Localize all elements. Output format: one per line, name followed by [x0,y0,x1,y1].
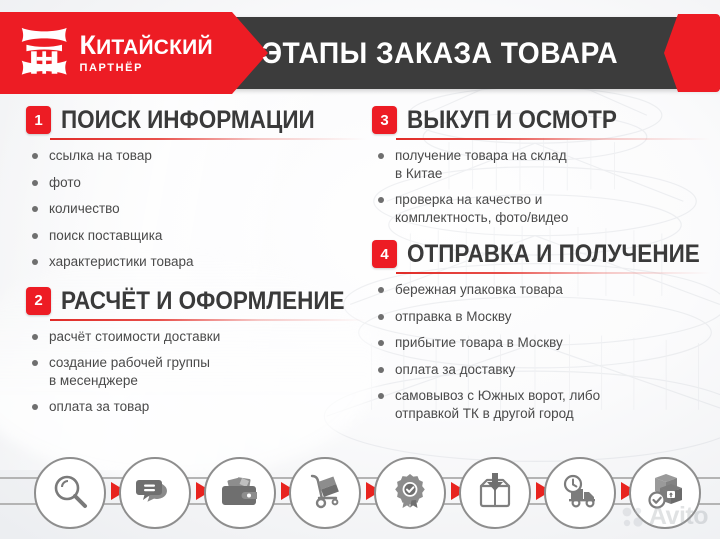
list-item-text: ссылка на товар [49,147,366,165]
section-1-header: 1 ПОИСК ИНФОРМАЦИИ [26,104,366,136]
process-step-5[interactable] [374,457,446,529]
chat-bubbles-icon [136,472,174,515]
right-column: 3 ВЫКУП И ОСМОТР получение товара на скл… [372,104,710,431]
list-item-text: получение товара на складв Китае [395,147,710,182]
process-nodes [0,435,720,539]
section-3-underline [396,138,710,140]
section-2-header: 2 РАСЧЁТ И ОФОРМЛЕНИЕ [26,285,366,317]
brand-subtitle: ПАРТНЁР [79,62,143,74]
list-item: отправка в Москву [372,308,710,326]
hand-truck-icon [306,472,344,515]
poster-infographic: КИТАЙСКИЙ ПАРТНЁР ЭТАПЫ ЗАКАЗА ТОВАРА 1 … [0,0,720,539]
section-4-underline [396,272,710,274]
wallet-icon [221,472,259,515]
brand-logo-text: КИТАЙСКИЙ ПАРТНЁР [79,32,268,75]
list-item: расчёт стоимости доставки [26,328,366,346]
brand-name-rest: ИТАЙСКИЙ [96,36,213,59]
section-4-title: ОТПРАВКА И ПОЛУЧЕНИЕ [407,240,700,268]
section-4-header: 4 ОТПРАВКА И ПОЛУЧЕНИЕ [372,238,710,270]
list-item-text: оплата за товар [49,398,366,416]
section-4-list: бережная упаковка товара отправка в Моск… [372,281,710,422]
header-banner: КИТАЙСКИЙ ПАРТНЁР ЭТАПЫ ЗАКАЗА ТОВАРА [0,12,720,94]
section-3-title: ВЫКУП И ОСМОТР [407,106,617,134]
list-item: ссылка на товар [26,147,366,165]
list-item: прибытие товара в Москву [372,334,710,352]
list-item: оплата за товар [26,398,366,416]
section-4: 4 ОТПРАВКА И ПОЛУЧЕНИЕ бережная упаковка… [372,238,710,422]
list-item: проверка на качество икомплектность, фот… [372,191,710,226]
process-step-7[interactable] [544,457,616,529]
list-item-text: создание рабочей группыв месенджере [49,354,366,389]
section-1-underline [50,138,366,140]
list-item-text: бережная упаковка товара [395,281,710,299]
section-2-number-badge: 2 [26,287,51,315]
list-item-text: отправка в Москву [395,308,710,326]
brand-name-initial: К [79,30,96,60]
section-3-list: получение товара на складв Китае проверк… [372,147,710,226]
list-item-text: характеристики товара [49,253,366,271]
page-title: ЭТАПЫ ЗАКАЗА ТОВАРА [262,32,657,76]
section-1-list: ссылка на товар фото количество поиск по… [26,147,366,271]
list-item: количество [26,200,366,218]
process-strip: Avito [0,435,720,539]
brand-logo[interactable]: КИТАЙСКИЙ ПАРТНЁР [18,26,268,80]
truck-clock-icon [561,472,599,515]
list-item: создание рабочей группыв месенджере [26,354,366,389]
brand-name: КИТАЙСКИЙ [79,36,212,59]
section-2-underline [50,319,366,321]
list-item-text: фото [49,174,366,192]
list-item: характеристики товара [26,253,366,271]
list-item-text: количество [49,200,366,218]
section-2-list: расчёт стоимости доставки создание рабоч… [26,328,366,416]
process-step-2[interactable] [119,457,191,529]
process-step-3[interactable] [204,457,276,529]
list-item: получение товара на складв Китае [372,147,710,182]
sections-container: 1 ПОИСК ИНФОРМАЦИИ ссылка на товар фото … [0,104,720,434]
list-item: поиск поставщика [26,227,366,245]
section-1-title: ПОИСК ИНФОРМАЦИИ [61,106,315,134]
list-item-text: поиск поставщика [49,227,366,245]
process-step-1[interactable] [34,457,106,529]
section-3-header: 3 ВЫКУП И ОСМОТР [372,104,710,136]
header-red-block: КИТАЙСКИЙ ПАРТНЁР [0,12,268,94]
list-item: бережная упаковка товара [372,281,710,299]
section-1-number-badge: 1 [26,106,51,134]
list-item-text: оплата за доставку [395,361,710,379]
process-step-8[interactable] [629,457,701,529]
section-3-number-badge: 3 [372,106,397,134]
list-item-text: проверка на качество икомплектность, фот… [395,191,710,226]
package-check-icon [646,472,684,515]
section-2: 2 РАСЧЁТ И ОФОРМЛЕНИЕ расчёт стоимости д… [26,285,366,416]
torii-gate-icon [18,26,70,80]
list-item: самовывоз с Южных ворот, либоотправкой Т… [372,387,710,422]
box-delivery-icon [476,472,514,515]
process-step-6[interactable] [459,457,531,529]
section-3: 3 ВЫКУП И ОСМОТР получение товара на скл… [372,104,710,226]
section-2-title: РАСЧЁТ И ОФОРМЛЕНИЕ [61,287,345,315]
list-item-text: расчёт стоимости доставки [49,328,366,346]
list-item-text: самовывоз с Южных ворот, либоотправкой Т… [395,387,710,422]
left-column: 1 ПОИСК ИНФОРМАЦИИ ссылка на товар фото … [26,104,366,425]
section-1: 1 ПОИСК ИНФОРМАЦИИ ссылка на товар фото … [26,104,366,271]
section-4-number-badge: 4 [372,240,397,268]
process-step-4[interactable] [289,457,361,529]
magnifier-icon [51,472,89,515]
list-item: оплата за доставку [372,361,710,379]
list-item: фото [26,174,366,192]
list-item-text: прибытие товара в Москву [395,334,710,352]
quality-badge-icon [391,472,429,515]
